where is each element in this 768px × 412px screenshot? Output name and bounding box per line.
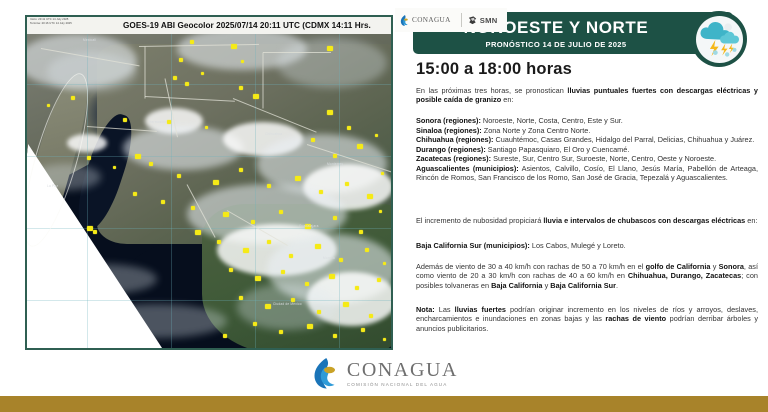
forecast-time-heading: 15:00 a 18:00 horas	[416, 60, 572, 79]
region-state-name: Zacatecas	[416, 154, 451, 163]
region-state-name: Durango	[416, 145, 446, 154]
lightning-strike	[329, 274, 335, 279]
lightning-strike	[231, 44, 237, 49]
lightning-strike	[379, 210, 382, 213]
lightning-strike	[305, 282, 309, 286]
lightning-strike	[223, 212, 229, 217]
cloudiness-paragraph: El incremento de nubosidad propiciará ll…	[416, 216, 758, 225]
lightning-strike	[239, 296, 243, 300]
lightning-strike	[333, 334, 337, 338]
lightning-strike	[205, 126, 208, 129]
satellite-header-bar: Inicio: 20:41 UTC 14 July 2025 Termina: …	[27, 17, 391, 34]
region-row: Aguascalientes (municipios): Asientos, C…	[416, 164, 758, 183]
lightning-strike	[267, 240, 271, 244]
lightning-strike	[365, 248, 369, 252]
lightning-strike	[307, 324, 313, 329]
region-row: Zacatecas (regiones): Sureste, Sur, Cent…	[416, 154, 758, 164]
region-qualifier: (regiones)	[448, 145, 483, 154]
region-state-name: Sonora	[416, 116, 441, 125]
place-label: La Paz	[47, 184, 58, 188]
lightning-strike	[317, 310, 321, 314]
footer-logo-text: CONAGUA COMISIÓN NACIONAL DEL AGUA	[347, 360, 458, 387]
lightning-strike	[71, 96, 75, 100]
bcs-qualifier: (municipios)	[484, 241, 528, 250]
nota-bold-2: rachas de viento	[605, 314, 666, 323]
lightning-strike	[190, 40, 194, 44]
lightning-strike	[315, 244, 321, 249]
wind-text-1: Además de viento de 30 a 40 km/h con rac…	[416, 262, 646, 271]
region-areas: Santiago Papasquiaro, El Oro y Cuencamé.	[488, 145, 630, 154]
bcs-municipalities: Los Cabos, Mulegé y Loreto.	[532, 241, 626, 250]
intro-suffix: en:	[501, 95, 513, 104]
lightning-strike	[347, 126, 351, 130]
lightning-strike	[213, 180, 219, 185]
wind-bold-3: Chihuahua, Durango, Zacatecas	[628, 271, 741, 280]
intro-paragraph: En las próximas tres horas, se pronostic…	[416, 86, 758, 105]
lightning-strike	[343, 302, 349, 307]
thunderstorm-cloud-icon	[691, 11, 747, 67]
lightning-strike	[87, 156, 91, 160]
lightning-strike	[355, 286, 359, 290]
lightning-strike	[173, 76, 177, 80]
border-line	[145, 47, 146, 99]
border-line	[263, 53, 264, 109]
lightning-strike	[201, 72, 204, 75]
conagua-eagle-water-icon	[310, 355, 340, 391]
wind-bold-4: Baja California	[491, 281, 542, 290]
lightning-strike	[241, 60, 244, 63]
lightning-strike	[217, 240, 221, 244]
lightning-strike	[253, 322, 257, 326]
lightning-strike	[267, 184, 271, 188]
lightning-strike	[133, 192, 137, 196]
lightning-strike	[179, 58, 183, 62]
lightning-strike	[369, 314, 373, 318]
wind-bold-1: golfo de California	[646, 262, 711, 271]
lightning-strike	[135, 154, 141, 159]
region-state-name: Chihuahua	[416, 135, 454, 144]
wind-bold-2: Sonora	[719, 262, 744, 271]
lightning-strike	[381, 172, 384, 175]
place-label: Ciudad de Mexico	[273, 302, 302, 306]
forecast-content-column: NOROESTE Y NORTE PRONÓSTICO 14 DE JULIO …	[405, 0, 768, 412]
lightning-strike	[383, 338, 386, 341]
lightning-strike	[327, 46, 333, 51]
lightning-strike	[239, 86, 243, 90]
lightning-strike	[239, 168, 243, 172]
lightning-strike	[281, 270, 285, 274]
region-state-name: Aguascalientes	[416, 164, 470, 173]
lightning-strike	[265, 304, 271, 309]
lightning-strike	[167, 120, 171, 124]
satellite-imagery: Mexicali Hermosillo Chihuahua La Paz Mon…	[27, 34, 391, 348]
lightning-strike	[253, 94, 259, 99]
bcs-row: Baja California Sur (municipios): Los Ca…	[416, 241, 758, 250]
lightning-strike	[377, 278, 381, 282]
lightning-strike	[295, 176, 301, 181]
cloudiness-suffix: en:	[745, 216, 757, 225]
lightning-strike	[361, 328, 365, 332]
cloudiness-highlight: lluvia e intervalos de chubascos con des…	[543, 216, 745, 225]
lightning-strike	[367, 194, 373, 199]
top-logo-strip: CONAGUA SMN	[395, 8, 507, 32]
cloudiness-prefix: El incremento de nubosidad propiciará	[416, 216, 543, 225]
region-row: Durango (regiones): Santiago Papasquiaro…	[416, 145, 758, 155]
lightning-strike	[311, 138, 315, 142]
banner-forecast-date: PRONÓSTICO 14 DE JULIO DE 2025	[486, 40, 627, 49]
region-state-name: Sinaloa	[416, 126, 442, 135]
footer-gold-bar	[0, 396, 768, 412]
lightning-strike	[345, 182, 349, 186]
conagua-logo-top: CONAGUA	[399, 14, 456, 27]
nota-label: Nota:	[416, 305, 435, 314]
lightning-strike	[113, 166, 116, 169]
lightning-strike	[251, 220, 255, 224]
place-label: Monterrey	[327, 162, 343, 166]
place-label: Morelia	[323, 256, 335, 260]
place-label: Guadalajara	[299, 224, 319, 228]
smn-wordmark-top: SMN	[480, 16, 498, 25]
satellite-image-panel: Mexicali Hermosillo Chihuahua La Paz Mon…	[25, 15, 393, 350]
nota-text-1: Las	[435, 305, 455, 314]
smn-logo-top: SMN	[467, 14, 498, 27]
lightning-strike	[357, 144, 363, 149]
cloud-mass	[237, 284, 337, 330]
smn-eagle-icon	[467, 14, 478, 27]
lightning-strike	[223, 334, 227, 338]
lightning-strike	[319, 190, 323, 194]
lightning-strike	[359, 230, 363, 234]
conagua-eagle-water-icon	[399, 14, 410, 27]
grid-line-parallel	[27, 300, 391, 301]
place-label: Hermosillo	[149, 120, 166, 124]
lightning-strike	[333, 216, 337, 220]
region-areas: Cuauhtémoc, Casas Grandes, Hidalgo del P…	[495, 135, 754, 144]
wind-text-6: .	[616, 281, 618, 290]
region-qualifier: (regiones)	[443, 116, 478, 125]
region-qualifier: (regiones)	[456, 135, 491, 144]
lightning-strike	[229, 268, 233, 272]
satellite-title: GOES-19 ABI Geocolor 2025/07/14 20:11 UT…	[123, 21, 371, 30]
footer-conagua-logo: CONAGUA COMISIÓN NACIONAL DEL AGUA	[0, 355, 768, 391]
region-qualifier: (regiones)	[444, 126, 479, 135]
nota-paragraph: Nota: Las lluvias fuertes podrían origin…	[416, 305, 758, 333]
conagua-subtitle: COMISIÓN NACIONAL DEL AGUA	[347, 382, 458, 387]
nota-bold-1: lluvias fuertes	[455, 305, 506, 314]
lightning-strike	[161, 200, 165, 204]
lightning-strike	[149, 162, 153, 166]
lightning-strike	[177, 174, 181, 178]
lightning-strike	[375, 134, 378, 137]
wind-text-2: y	[710, 262, 718, 271]
wind-paragraph: Además de viento de 30 a 40 km/h con rac…	[416, 262, 758, 290]
thunderstorm-cloud-glyph	[697, 19, 741, 59]
wind-bold-5: Baja California Sur	[550, 281, 616, 290]
lightning-strike	[339, 258, 343, 262]
lightning-strike	[279, 330, 283, 334]
lightning-strike	[123, 118, 127, 122]
satellite-timestamp-meta: Inicio: 20:41 UTC 14 July 2025 Termina: …	[30, 18, 72, 25]
lightning-strike	[383, 262, 386, 265]
lightning-strike	[191, 206, 195, 210]
lightning-strike-los-cabos	[93, 230, 97, 234]
lightning-strike	[255, 276, 261, 281]
conagua-wordmark-top: CONAGUA	[412, 16, 451, 24]
region-areas: Zona Norte y Zona Centro Norte.	[484, 126, 591, 135]
regions-list: Sonora (regiones): Noroeste, Norte, Cost…	[416, 116, 758, 183]
conagua-wordmark: CONAGUA	[347, 360, 458, 380]
lightning-strike	[185, 82, 189, 86]
lightning-strike	[243, 248, 249, 253]
lightning-strike	[333, 154, 337, 158]
lightning-strike	[195, 230, 201, 235]
forecast-infographic: Mexicali Hermosillo Chihuahua La Paz Mon…	[0, 0, 768, 412]
logo-divider	[461, 13, 462, 27]
region-qualifier: (regiones)	[453, 154, 488, 163]
place-label: Chihuahua	[265, 132, 282, 136]
region-qualifier: (municipios)	[473, 164, 516, 173]
bcs-state-name: Baja California Sur	[416, 241, 482, 250]
place-label: Mexicali	[83, 38, 96, 42]
region-row: Sinaloa (regiones): Zona Norte y Zona Ce…	[416, 126, 758, 136]
lightning-strike	[289, 254, 293, 258]
region-areas: Noroeste, Norte, Costa, Centro, Este y S…	[483, 116, 623, 125]
lightning-strike	[279, 210, 283, 214]
region-row: Chihuahua (regiones): Cuauhtémoc, Casas …	[416, 135, 758, 145]
intro-prefix: En las próximas tres horas, se pronostic…	[416, 86, 567, 95]
border-line	[263, 52, 331, 53]
region-row: Sonora (regiones): Noroeste, Norte, Cost…	[416, 116, 758, 126]
region-areas: Sureste, Sur, Centro Sur, Suroeste, Nort…	[493, 154, 716, 163]
lightning-strike	[327, 110, 333, 115]
lightning-strike	[47, 104, 50, 107]
